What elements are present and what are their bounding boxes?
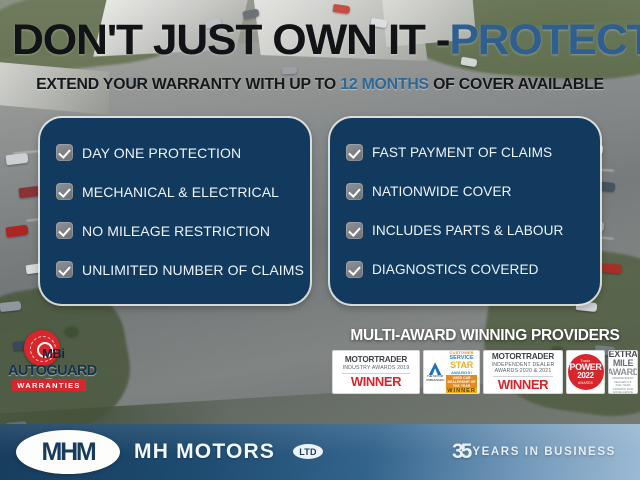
badge-line-1: MOTORTRADER bbox=[492, 353, 554, 362]
badge-line-3: 2022 bbox=[577, 372, 594, 380]
headline-primary: DON'T JUST OWN IT - bbox=[12, 19, 449, 62]
check-icon bbox=[56, 183, 73, 200]
award-badge-extra-mile: EXTRA MILE AWARD INDEPENDENT DEALER OF T… bbox=[608, 350, 638, 394]
mbi-name: AUTOGUARD bbox=[8, 363, 90, 379]
awards-badge-row: MOTORTRADER INDUSTRY AWARDS 2019 WINNER … bbox=[332, 350, 638, 394]
power-award-circle: Trade POWER 2022 AWARDS bbox=[568, 354, 604, 390]
feature-label: MECHANICAL & ELECTRICAL bbox=[82, 184, 279, 200]
badge-line-3: AWARDS 2020 & 2021 bbox=[495, 368, 552, 375]
feature-item: DAY ONE PROTECTION bbox=[56, 144, 294, 161]
check-icon bbox=[346, 222, 363, 239]
award-badge-motortrader-independent: MOTORTRADER INDEPENDENT DEALER AWARDS 20… bbox=[483, 350, 563, 394]
badge-line-4: AWARDS bbox=[578, 381, 593, 385]
subheadline-after: OF COVER AVAILABLE bbox=[429, 76, 604, 93]
badge-winner: WINNER bbox=[446, 388, 477, 394]
badge-line-2: INDUSTRY AWARDS 2019 bbox=[343, 365, 410, 372]
badge-brand-line-2: OMBUDSMAN bbox=[426, 379, 444, 382]
headline: DON'T JUST OWN IT - PROTECT IT bbox=[12, 14, 640, 66]
feature-item: FAST PAYMENT OF CLAIMS bbox=[346, 144, 584, 161]
check-icon bbox=[346, 261, 363, 278]
years-in-business: 35 YEARS IN BUSINESS bbox=[452, 440, 616, 464]
mbi-autoguard-logo: MBi AUTOGUARD WARRANTIES bbox=[8, 330, 90, 402]
badge-content: THE MOTOR OMBUDSMAN CUSTOMER SERVICE STA… bbox=[426, 352, 477, 392]
mbi-tagline: WARRANTIES bbox=[12, 379, 86, 391]
company-name: MH MOTORS bbox=[134, 440, 275, 464]
badge-line-4: INDEPENDENT DEALER OF THE YEAR bbox=[611, 377, 635, 387]
badge-line-3: STAR bbox=[450, 361, 473, 370]
feature-label: NATIONWIDE COVER bbox=[372, 184, 512, 199]
promo-banner: DON'T JUST OWN IT - PROTECT IT EXTEND YO… bbox=[0, 0, 640, 480]
years-label: YEARS IN BUSINESS bbox=[472, 446, 616, 458]
feature-label: DAY ONE PROTECTION bbox=[82, 145, 241, 161]
subheadline-before: EXTEND YOUR WARRANTY WITH UP TO bbox=[36, 76, 340, 93]
check-icon bbox=[56, 261, 73, 278]
feature-label: UNLIMITED NUMBER OF CLAIMS bbox=[82, 262, 304, 278]
feature-item: NATIONWIDE COVER bbox=[346, 183, 584, 200]
mhm-logo-text: MHM bbox=[41, 438, 94, 467]
feature-item: INCLUDES PARTS & LABOUR bbox=[346, 222, 584, 239]
feature-item: UNLIMITED NUMBER OF CLAIMS bbox=[56, 261, 294, 278]
badge-line-1: MOTORTRADER bbox=[345, 356, 407, 365]
check-icon bbox=[56, 222, 73, 239]
motor-ombudsman-logo: THE MOTOR OMBUDSMAN bbox=[426, 352, 444, 392]
feature-item: NO MILEAGE RESTRICTION bbox=[56, 222, 294, 239]
badge-text-block: CUSTOMER SERVICE STAR AWARDS! USED CAR D… bbox=[446, 350, 477, 394]
subheadline: EXTEND YOUR WARRANTY WITH UP TO 12 MONTH… bbox=[24, 76, 616, 94]
years-number: 35 bbox=[452, 440, 469, 464]
mhm-logo: MHM bbox=[16, 430, 120, 474]
subheadline-highlight: 12 MONTHS bbox=[340, 76, 429, 93]
badge-line-3: WINNER bbox=[351, 375, 401, 388]
feature-label: FAST PAYMENT OF CLAIMS bbox=[372, 145, 552, 160]
feature-panel-left: DAY ONE PROTECTION MECHANICAL & ELECTRIC… bbox=[40, 118, 310, 304]
mbi-mark: MBi bbox=[42, 346, 65, 361]
badge-line-5: AWARDS FOR EXCELLENCE bbox=[611, 388, 635, 395]
award-badge-customer-service-star: THE MOTOR OMBUDSMAN CUSTOMER SERVICE STA… bbox=[423, 350, 480, 394]
feature-item: DIAGNOSTICS COVERED bbox=[346, 261, 584, 278]
awards-title: MULTI-AWARD WINNING PROVIDERS bbox=[332, 327, 638, 345]
feature-label: NO MILEAGE RESTRICTION bbox=[82, 223, 270, 239]
headline-accent: PROTECT IT bbox=[449, 19, 640, 62]
feature-item: MECHANICAL & ELECTRICAL bbox=[56, 183, 294, 200]
feature-label: DIAGNOSTICS COVERED bbox=[372, 262, 539, 277]
footer-bar: MHM MH MOTORS LTD 35 YEARS IN BUSINESS bbox=[0, 424, 640, 480]
feature-panel-right: FAST PAYMENT OF CLAIMS NATIONWIDE COVER … bbox=[330, 118, 600, 304]
check-icon bbox=[56, 144, 73, 161]
feature-label: INCLUDES PARTS & LABOUR bbox=[372, 223, 563, 238]
badge-bar: USED CAR DEALERSHIP OF THE YEAR bbox=[446, 375, 477, 388]
check-icon bbox=[346, 144, 363, 161]
award-badge-motortrader-industry: MOTORTRADER INDUSTRY AWARDS 2019 WINNER bbox=[332, 350, 420, 394]
award-badge-power-2022: Trade POWER 2022 AWARDS bbox=[566, 350, 605, 394]
company-suffix-badge: LTD bbox=[293, 444, 323, 459]
check-icon bbox=[346, 183, 363, 200]
badge-line-4: WINNER bbox=[498, 378, 548, 391]
